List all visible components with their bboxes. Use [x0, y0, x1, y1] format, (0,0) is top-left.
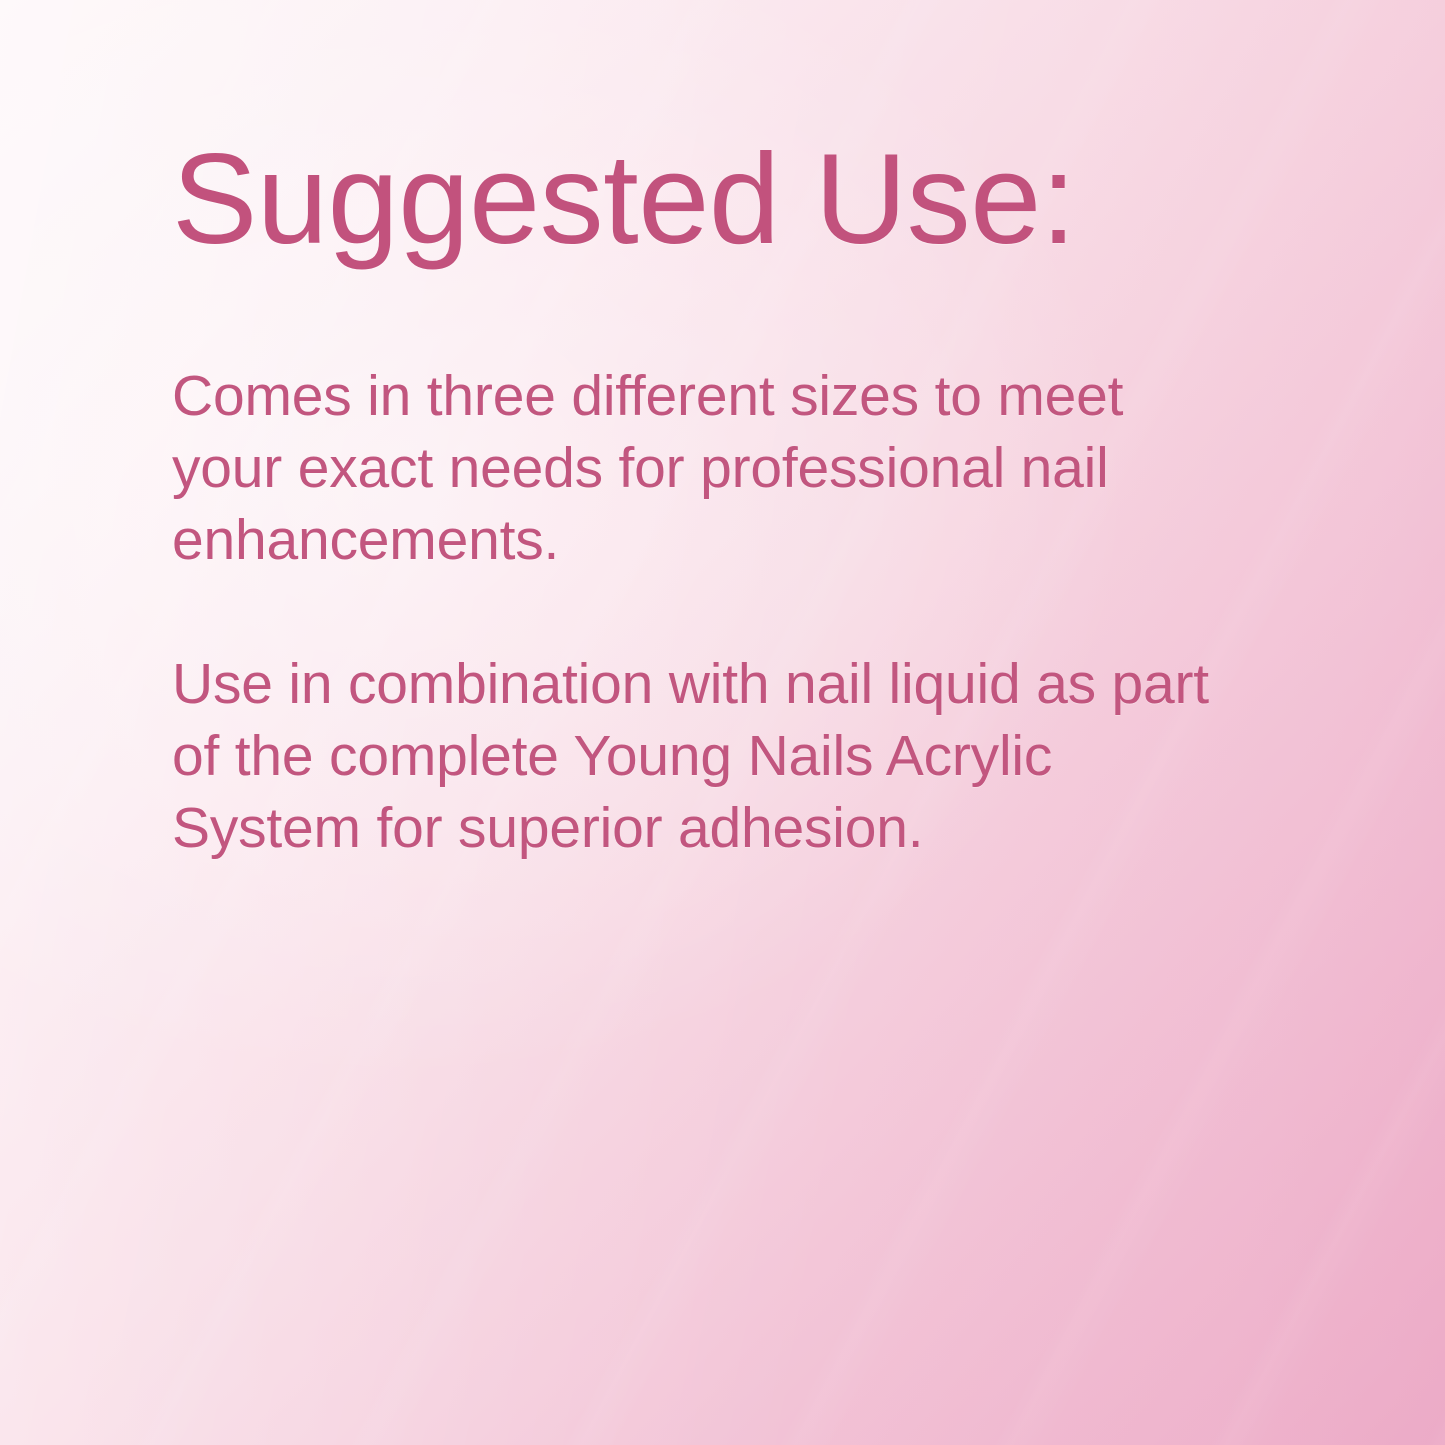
body-copy: Comes in three different sizes to meet y… — [172, 360, 1242, 864]
body-paragraph-sizes: Comes in three different sizes to meet y… — [172, 360, 1217, 576]
content-block: Suggested Use: Comes in three different … — [172, 132, 1242, 864]
body-paragraph-usage: Use in combination with nail liquid as p… — [172, 648, 1217, 864]
promo-canvas: Suggested Use: Comes in three different … — [0, 0, 1445, 1445]
suggested-use-heading: Suggested Use: — [172, 132, 1242, 268]
